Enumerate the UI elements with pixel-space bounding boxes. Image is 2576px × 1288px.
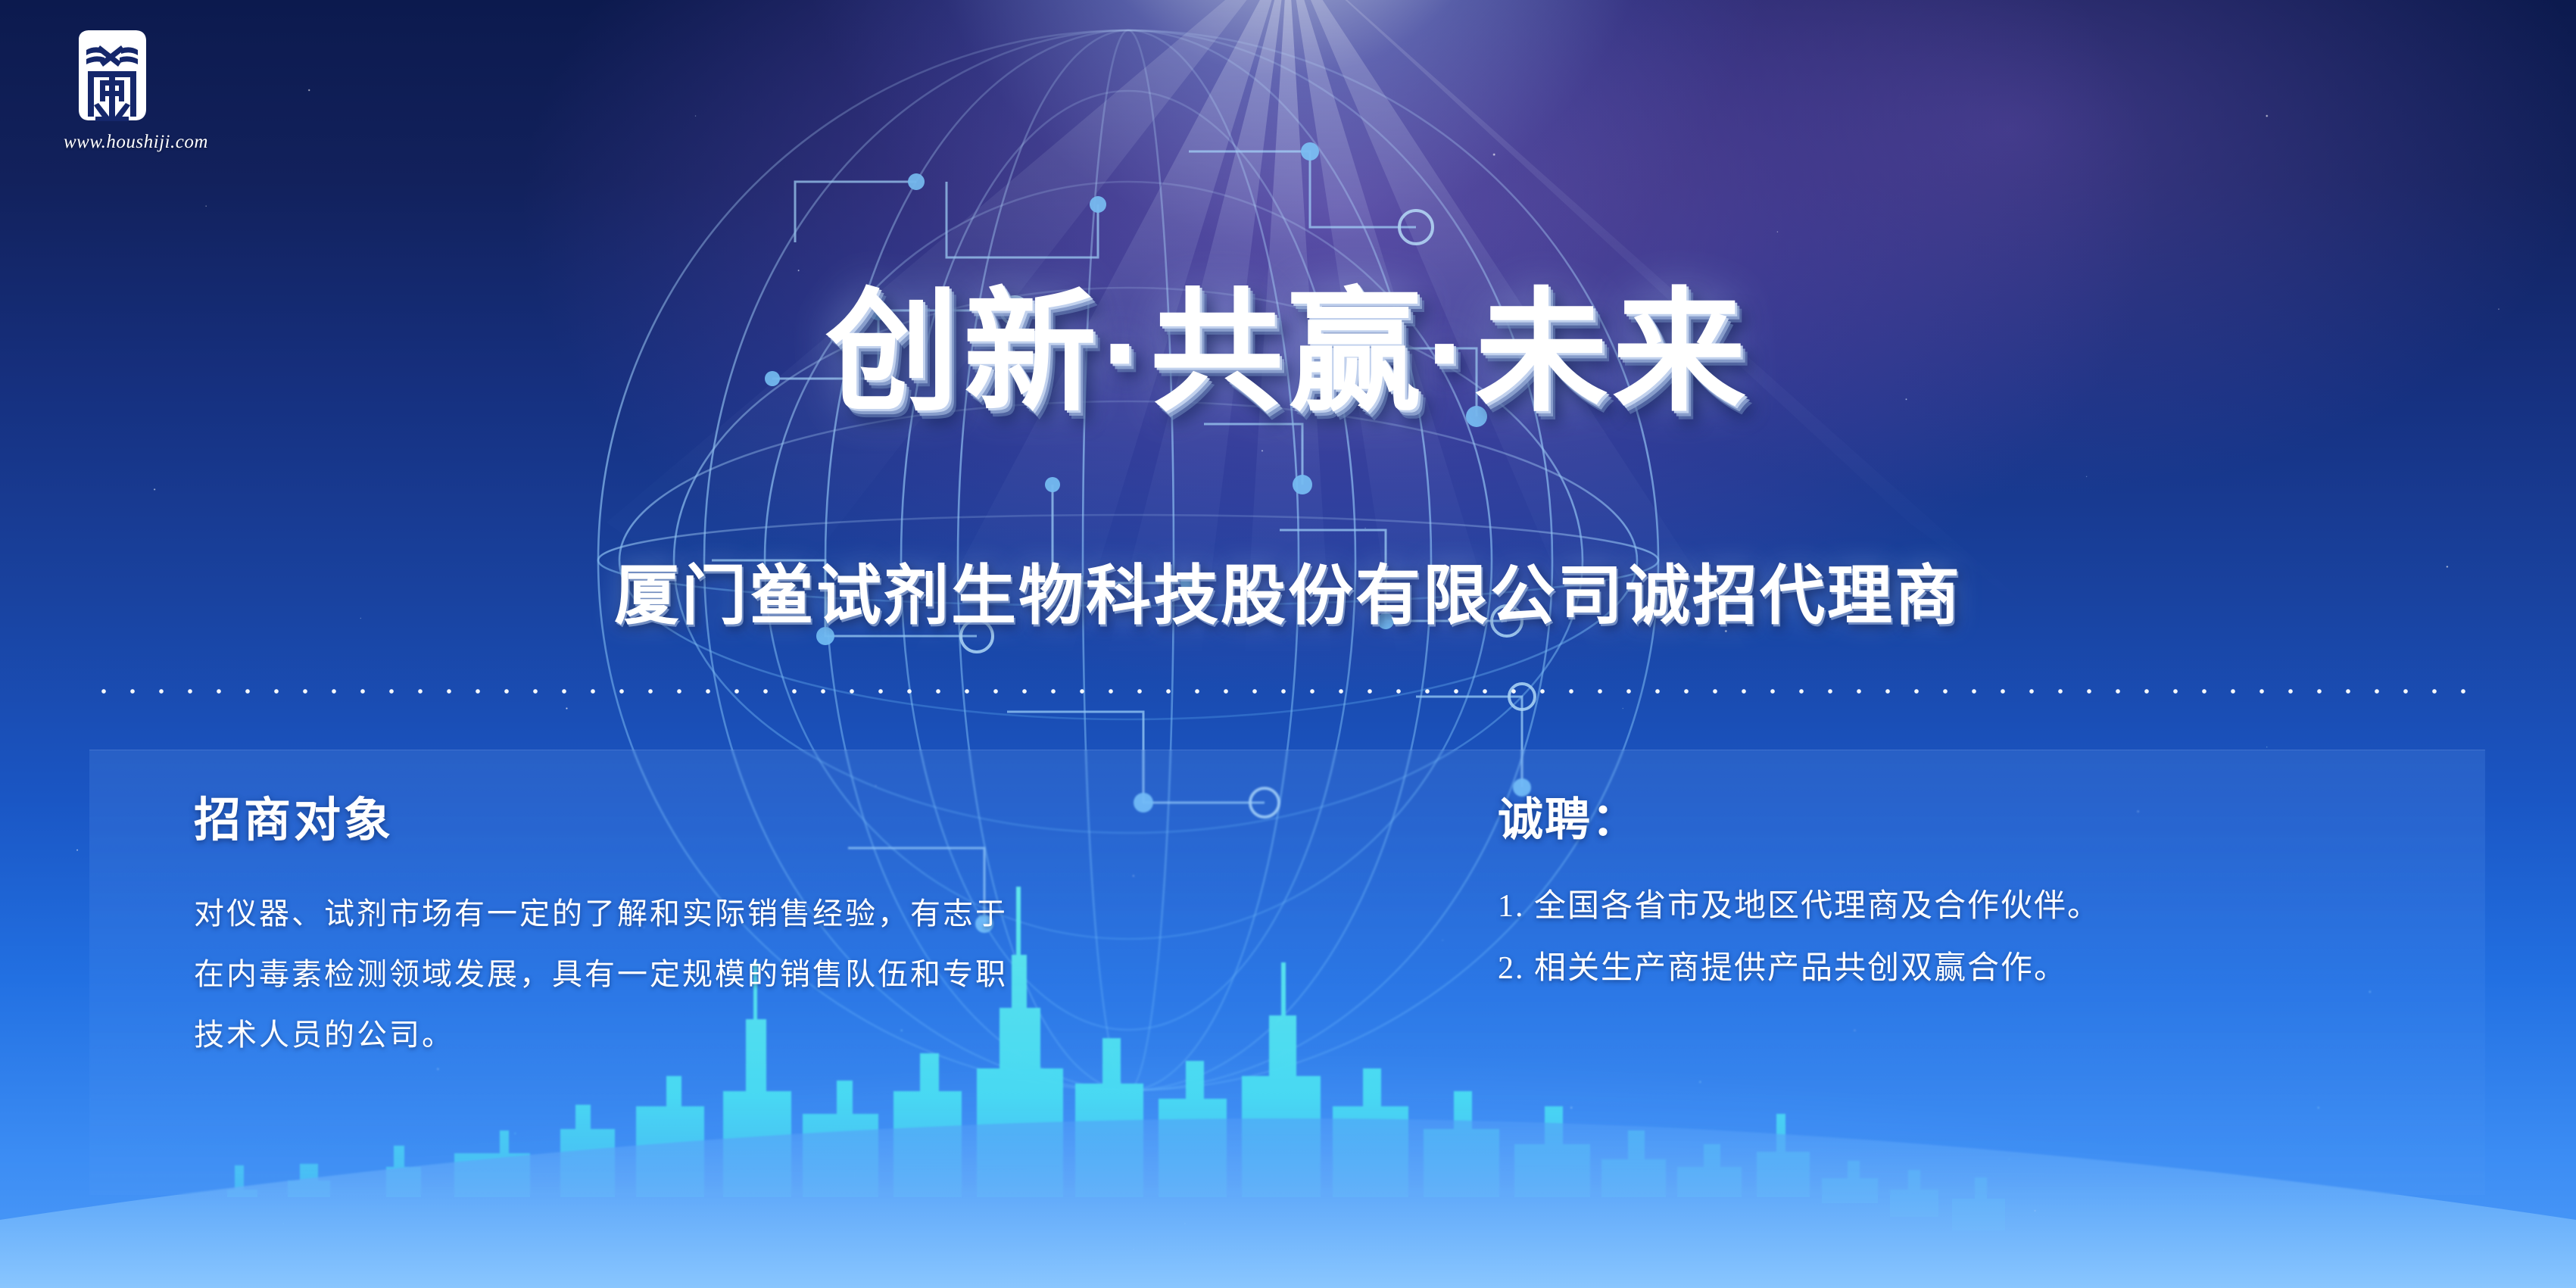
page-title: 创新·共赢·未来 [0,286,2576,419]
hiring-column: 诚聘： 1. 全国各省市及地区代理商及合作伙伴。 2. 相关生产商提供产品共创双… [1498,797,2429,1000]
brand-logo[interactable]: www.houshiji.com [64,27,260,153]
brand-url[interactable]: www.houshiji.com [64,132,260,153]
content-panel: 招商对象 对仪器、试剂市场有一定的了解和实际销售经验，有志于 在内毒素检测领域发… [89,750,2485,1195]
recruit-target-line-1: 对仪器、试剂市场有一定的了解和实际销售经验，有志于 [194,884,1375,944]
list-item: 2. 相关生产商提供产品共创双赢合作。 [1498,938,2429,1000]
recruit-target-line-2: 在内毒素检测领域发展，具有一定规模的销售队伍和专职 [194,944,1375,1005]
hiring-title: 诚聘： [1498,797,2429,843]
recruit-target-title: 招商对象 [194,797,1375,844]
seal-stamp-icon [70,27,154,124]
recruit-target-column: 招商对象 对仪器、试剂市场有一定的了解和实际销售经验，有志于 在内毒素检测领域发… [194,797,1375,1065]
promo-banner: www.houshiji.com 创新·共赢·未来 厦门鲎试剂生物科技股份有限公… [0,0,2576,1288]
hiring-list: 1. 全国各省市及地区代理商及合作伙伴。 2. 相关生产商提供产品共创双赢合作。 [1498,876,2429,1000]
recruit-target-line-3: 技术人员的公司。 [194,1005,1375,1065]
list-item: 1. 全国各省市及地区代理商及合作伙伴。 [1498,876,2429,938]
dotted-divider-icon [89,688,2485,695]
page-subtitle: 厦门鲎试剂生物科技股份有限公司诚招代理商 [0,560,2576,632]
recruit-target-body: 对仪器、试剂市场有一定的了解和实际销售经验，有志于 在内毒素检测领域发展，具有一… [194,884,1375,1065]
